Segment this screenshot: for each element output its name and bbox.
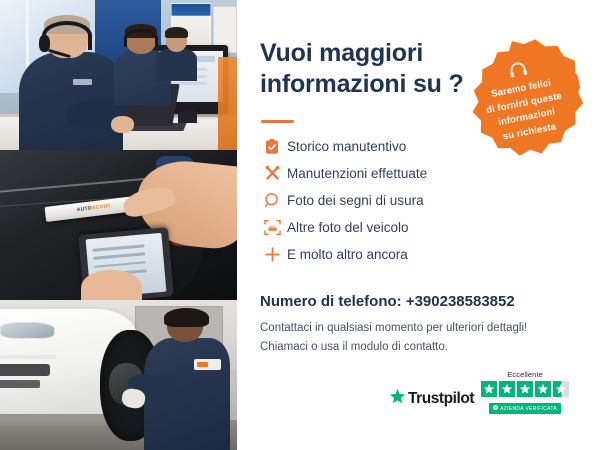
feature-item-foto-segni-usura: Foto dei segni di usura <box>257 187 557 214</box>
contact-line-1: Contattaci in qualsiasi momento per ulte… <box>260 319 580 338</box>
polo-logo <box>73 79 92 86</box>
vehicle-inspection-ruler-photo: AUTOSCOUT <box>0 150 237 300</box>
star-filled <box>535 381 551 397</box>
agent-hand <box>111 116 134 133</box>
magnifier-icon <box>257 192 287 209</box>
ruler-brand-text: AUTOSCOUT <box>77 203 112 213</box>
title-divider <box>261 120 294 123</box>
verified-company-badge: AZIENDA VERIFICATA <box>489 403 561 414</box>
feature-label: Storico manutentivo <box>287 139 406 154</box>
page-title: Vuoi maggiori informazioni su ? <box>260 38 475 99</box>
phone-number[interactable]: Numero di telefono: +390238583852 <box>260 293 515 310</box>
feature-item-altre-foto-veicolo: Altre foto del veicolo <box>257 214 557 241</box>
mechanic <box>142 312 232 450</box>
mechanic-hair <box>164 308 209 327</box>
crossed-tools-icon <box>257 165 287 182</box>
car-lower-grille <box>0 380 40 387</box>
trustpilot-rating: Eccellente <box>481 370 569 415</box>
plus-icon <box>257 246 287 263</box>
agent-hair <box>165 27 188 38</box>
check-circle-icon <box>493 405 498 412</box>
car-bumper <box>0 355 56 359</box>
star-filled <box>517 381 533 397</box>
orange-equipment <box>218 57 237 150</box>
feature-item-storico-manutentivo: Storico manutentivo <box>257 133 557 160</box>
star-filled <box>499 381 515 397</box>
verified-label: AZIENDA VERIFICATA <box>500 406 557 412</box>
trustpilot-star-icon <box>389 388 406 410</box>
uniform-badge <box>194 359 221 370</box>
agent-foreground <box>19 18 123 150</box>
trustpilot-wordmark: Trustpilot <box>408 390 474 408</box>
feature-item-molto-altro: E molto altro ancora <box>257 241 557 268</box>
contact-line-2: Chiamaci o usa il modulo di contatto. <box>260 338 580 357</box>
content-panel: Vuoi maggiori informazioni su ? Saremo f… <box>237 0 600 450</box>
trustpilot-widget[interactable]: Trustpilot Eccellente <box>389 370 569 415</box>
rating-stars <box>481 381 569 397</box>
advertisement-card: AUTOSCOUT <box>0 0 600 450</box>
feature-label: E molto altro ancora <box>287 247 408 262</box>
trustpilot-logo: Trustpilot <box>389 388 474 410</box>
inspector-hand <box>81 270 143 300</box>
car-grille <box>0 364 50 377</box>
photo-column: AUTOSCOUT <box>0 0 237 450</box>
rating-label: Eccellente <box>481 370 569 379</box>
mechanic-wheel-inspection-photo <box>0 300 237 450</box>
headset-band <box>124 29 158 48</box>
agent-torso <box>156 49 196 81</box>
car-headlight <box>0 322 55 340</box>
feature-label: Manutenzioni effettuate <box>287 166 427 181</box>
star-partial <box>553 381 569 397</box>
star-filled <box>481 381 497 397</box>
feature-list: Storico manutentivo Manutenzioni effettu… <box>257 133 557 268</box>
feature-item-manutenzioni-effettuate: Manutenzioni effettuate <box>257 160 557 187</box>
agent-background <box>156 30 196 81</box>
clipboard-check-icon <box>257 139 287 155</box>
feature-label: Foto dei segni di usura <box>287 193 424 208</box>
call-center-agents-photo <box>0 0 237 150</box>
contact-description: Contattaci in qualsiasi momento per ulte… <box>260 319 580 356</box>
monitor-stand <box>178 111 197 123</box>
feature-label: Altre foto del veicolo <box>287 220 409 235</box>
car-frame-icon <box>257 219 287 236</box>
